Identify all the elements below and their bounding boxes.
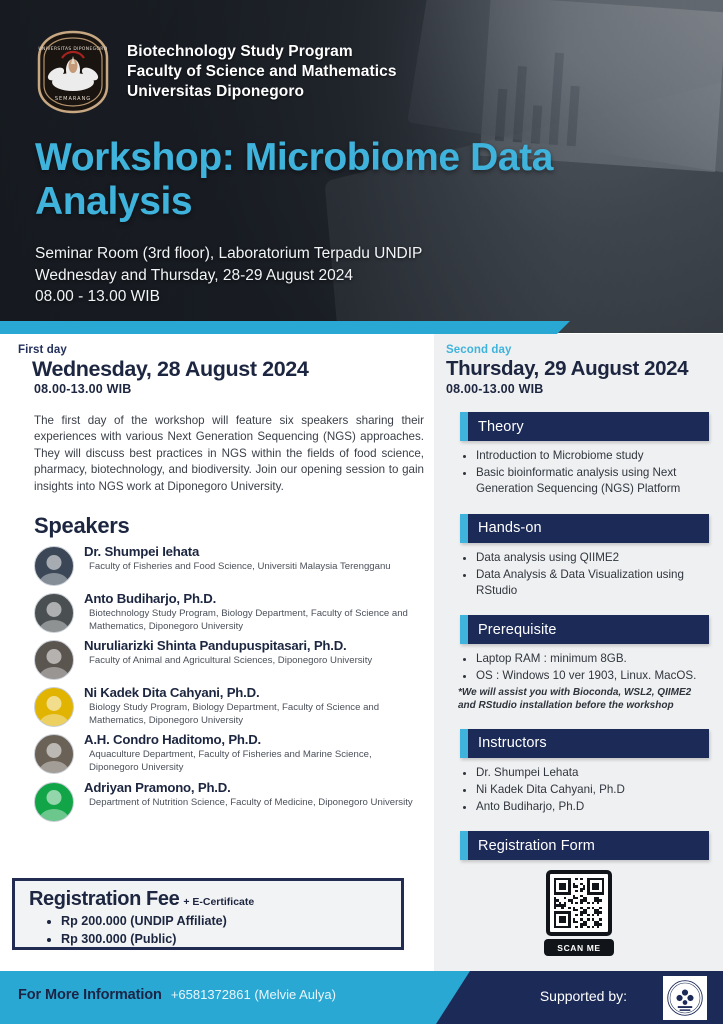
event-venue: Seminar Room (3rd floor), Laboratorium T… [35, 243, 422, 265]
registration-fee-title: Registration Fee [29, 888, 179, 911]
avatar [34, 782, 74, 822]
speaker-affiliation: Faculty of Fisheries and Food Science, U… [89, 561, 391, 574]
org-line-2: Faculty of Science and Mathematics [127, 62, 397, 82]
section-title: Registration Form [478, 838, 595, 854]
avatar [34, 593, 74, 633]
qr-code-icon[interactable] [546, 870, 612, 936]
list-item: Basic bioinformatic analysis using Next … [476, 465, 712, 497]
event-time: 08.00 - 13.00 WIB [35, 286, 422, 308]
list-item: Ni Kadek Dita Cahyani, Ph.D [476, 782, 712, 798]
theory-list: Introduction to Microbiome study Basic b… [476, 448, 712, 498]
first-day-date: Wednesday, 28 August 2024 [32, 356, 420, 382]
cyan-divider-bar [0, 321, 570, 334]
speaker-name: Nuruliarizki Shinta Pandupuspitasari, Ph… [84, 637, 372, 654]
list-item: Data analysis using QIIME2 [476, 550, 712, 566]
list-item: Anto Budiharjo, Ph.D [476, 799, 712, 815]
section-header-hands-on: Hands-on [460, 514, 709, 543]
prerequisite-list: Laptop RAM : minimum 8GB. OS : Windows 1… [476, 651, 712, 684]
speaker-name: A.H. Condro Haditomo, Ph.D. [84, 731, 420, 748]
speaker-affiliation: Aquaculture Department, Faculty of Fishe… [89, 749, 420, 774]
list-item: Introduction to Microbiome study [476, 448, 712, 464]
fee-item: Rp 200.000 (UNDIP Affiliate) [61, 913, 401, 931]
section-header-registration-form[interactable]: Registration Form [460, 831, 709, 860]
avatar [34, 546, 74, 586]
scan-me-label: SCAN ME [544, 939, 614, 956]
supported-by-label: Supported by: [540, 988, 627, 1004]
organization-lines: Biotechnology Study Program Faculty of S… [127, 42, 397, 102]
contact-number[interactable]: +6581372861 (Melvie Aulya) [171, 987, 336, 1002]
organization-block: UNIVERSITAS DIPONEGORO SEMARANG Biotechn… [35, 30, 397, 114]
section-header-prerequisite: Prerequisite [460, 615, 709, 644]
second-day-date: Thursday, 29 August 2024 [446, 356, 709, 382]
speaker-name: Ni Kadek Dita Cahyani, Ph.D. [84, 684, 420, 701]
registration-qr[interactable]: SCAN ME [538, 870, 620, 956]
org-line-3: Universitas Diponegoro [127, 82, 397, 102]
section-header-instructors: Instructors [460, 729, 709, 758]
prerequisite-note: *We will assist you with Bioconda, WSL2,… [458, 686, 710, 713]
speaker-item: A.H. Condro Haditomo, Ph.D. Aquaculture … [34, 731, 420, 774]
avatar [34, 734, 74, 774]
section-title: Hands-on [478, 520, 542, 536]
undip-logo: UNIVERSITAS DIPONEGORO SEMARANG [35, 30, 111, 114]
second-day-time: 08.00-13.00 WIB [446, 382, 709, 396]
speaker-name: Adriyan Pramono, Ph.D. [84, 779, 413, 796]
speakers-heading: Speakers [34, 513, 420, 539]
registration-fee-box: Registration Fee + E-Certificate Rp 200.… [12, 878, 404, 950]
speaker-item: Anto Budiharjo, Ph.D. Biotechnology Stud… [34, 590, 420, 633]
speaker-affiliation: Department of Nutrition Science, Faculty… [89, 797, 413, 810]
list-item: Laptop RAM : minimum 8GB. [476, 651, 712, 667]
speaker-name: Anto Budiharjo, Ph.D. [84, 590, 420, 607]
section-header-theory: Theory [460, 412, 709, 441]
avatar [34, 687, 74, 727]
list-item: Dr. Shumpei Lehata [476, 765, 712, 781]
workshop-poster: UNIVERSITAS DIPONEGORO SEMARANG Biotechn… [0, 0, 723, 1024]
fee-item: Rp 300.000 (Public) [61, 931, 401, 949]
e-certificate-note: + E-Certificate [183, 896, 254, 911]
contact-label: For More Information [18, 987, 162, 1003]
list-item: OS : Windows 10 ver 1903, Linux. MacOS. [476, 668, 712, 684]
partner-logo [663, 976, 707, 1020]
instructors-list: Dr. Shumpei Lehata Ni Kadek Dita Cahyani… [476, 765, 712, 816]
section-title: Instructors [478, 735, 547, 751]
svg-text:SEMARANG: SEMARANG [55, 96, 91, 102]
speaker-affiliation: Faculty of Animal and Agricultural Scien… [89, 655, 372, 668]
hero-banner: UNIVERSITAS DIPONEGORO SEMARANG Biotechn… [0, 0, 723, 333]
second-day-kicker: Second day [446, 344, 709, 356]
contact-block: For More Information +6581372861 (Melvie… [18, 987, 336, 1003]
speaker-item: Dr. Shumpei Iehata Faculty of Fisheries … [34, 543, 420, 586]
first-day-column: First day Wednesday, 28 August 2024 08.0… [0, 334, 434, 971]
speaker-item: Ni Kadek Dita Cahyani, Ph.D. Biology Stu… [34, 684, 420, 727]
registration-fee-list: Rp 200.000 (UNDIP Affiliate) Rp 300.000 … [53, 913, 401, 948]
section-title: Theory [478, 419, 524, 435]
avatar [34, 640, 74, 680]
org-line-1: Biotechnology Study Program [127, 42, 397, 62]
event-dates: Wednesday and Thursday, 28-29 August 202… [35, 265, 422, 287]
speaker-item: Adriyan Pramono, Ph.D. Department of Nut… [34, 779, 420, 822]
list-item: Data Analysis & Data Visualization using… [476, 567, 712, 599]
footer: For More Information +6581372861 (Melvie… [0, 971, 723, 1024]
poster-title: Workshop: Microbiome Data Analysis [35, 136, 635, 224]
first-day-kicker: First day [18, 344, 420, 356]
hands-on-list: Data analysis using QIIME2 Data Analysis… [476, 550, 712, 600]
speaker-affiliation: Biotechnology Study Program, Biology Dep… [89, 608, 420, 633]
second-day-column: Second day Thursday, 29 August 2024 08.0… [434, 334, 723, 971]
speaker-affiliation: Biology Study Program, Biology Departmen… [89, 702, 420, 727]
section-title: Prerequisite [478, 622, 557, 638]
speaker-name: Dr. Shumpei Iehata [84, 543, 391, 560]
svg-text:UNIVERSITAS DIPONEGORO: UNIVERSITAS DIPONEGORO [38, 46, 107, 52]
first-day-time: 08.00-13.00 WIB [34, 382, 420, 396]
event-details: Seminar Room (3rd floor), Laboratorium T… [35, 243, 422, 308]
first-day-intro: The first day of the workshop will featu… [34, 413, 424, 495]
speaker-item: Nuruliarizki Shinta Pandupuspitasari, Ph… [34, 637, 420, 680]
